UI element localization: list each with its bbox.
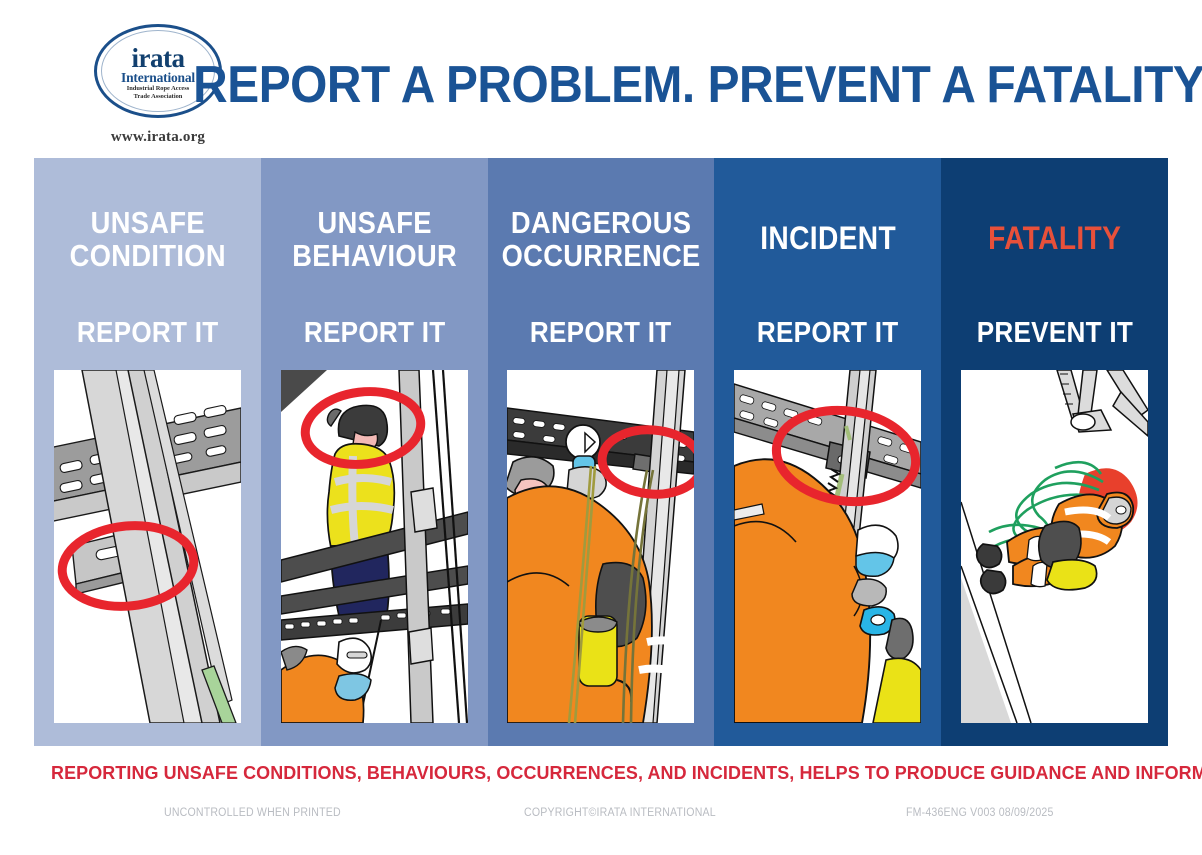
column-action-unsafe-condition: REPORT IT [77,318,219,348]
footer-copyright: COPYRIGHT©IRATA INTERNATIONAL [524,807,716,819]
column-header-incident: INCIDENT REPORT IT [714,158,941,370]
column-unsafe-condition: UNSAFE CONDITION REPORT IT [34,158,261,746]
poster: irata International Industrial Rope Acce… [0,0,1202,855]
column-action-unsafe-behaviour: REPORT IT [303,318,445,348]
column-title-incident: INCIDENT [760,222,896,255]
footer-uncontrolled-notice: UNCONTROLLED WHEN PRINTED [164,807,341,819]
poster-footer: UNCONTROLLED WHEN PRINTED COPYRIGHT©IRAT… [34,802,1168,824]
logo-website-url: www.irata.org [111,129,205,146]
column-title-line1: UNSAFE [69,206,225,239]
column-dangerous-occurrence: DANGEROUS OCCURRENCE REPORT IT [488,158,715,746]
column-title-line2: BEHAVIOUR [292,239,457,272]
poster-header: irata International Industrial Rope Acce… [0,0,1202,155]
column-title-line1: INCIDENT [760,222,896,255]
column-title-line1: DANGEROUS [501,206,700,239]
safety-tagline: REPORTING UNSAFE CONDITIONS, BEHAVIOURS,… [51,762,1151,784]
illustration-fallen-worker [961,370,1148,723]
column-header-dangerous-occurrence: DANGEROUS OCCURRENCE REPORT IT [488,158,715,370]
column-incident: INCIDENT REPORT IT [714,158,941,746]
column-header-unsafe-behaviour: UNSAFE BEHAVIOUR REPORT IT [261,158,488,370]
column-action-fatality: PREVENT IT [976,318,1132,348]
column-title-line2: OCCURRENCE [501,239,700,272]
page-title: REPORT A PROBLEM. PREVENT A FATALITY. [286,50,1119,120]
illustration-rope-anchor-damage [507,370,694,723]
column-header-unsafe-condition: UNSAFE CONDITION REPORT IT [34,158,261,370]
logo-subtitle-line2: Trade Association [134,93,183,100]
column-header-fatality: FATALITY PREVENT IT [941,158,1168,370]
logo-name: irata [132,46,185,70]
column-title-fatality: FATALITY [988,222,1121,255]
illustration-worker-helmet-unfastened [281,370,468,723]
column-title-line1: FATALITY [988,222,1121,255]
logo-international: International [121,71,195,84]
footer-document-reference: FM-436ENG V003 08/09/2025 [906,807,1054,819]
illustration-rope-failure-anchor [734,370,921,723]
column-title-line1: UNSAFE [292,206,457,239]
logo-subtitle-line1: Industrial Rope Access [127,85,190,92]
column-title-line2: CONDITION [69,239,225,272]
escalation-columns: UNSAFE CONDITION REPORT IT [34,158,1168,746]
column-title-unsafe-behaviour: UNSAFE BEHAVIOUR [292,206,457,272]
column-unsafe-behaviour: UNSAFE BEHAVIOUR REPORT IT [261,158,488,746]
illustration-loose-cable-tray-bracket [54,370,241,723]
column-fatality: FATALITY PREVENT IT [941,158,1168,746]
column-action-incident: REPORT IT [757,318,899,348]
column-title-unsafe-condition: UNSAFE CONDITION [69,206,225,272]
column-action-dangerous-occurrence: REPORT IT [530,318,672,348]
column-title-dangerous-occurrence: DANGEROUS OCCURRENCE [501,206,700,272]
